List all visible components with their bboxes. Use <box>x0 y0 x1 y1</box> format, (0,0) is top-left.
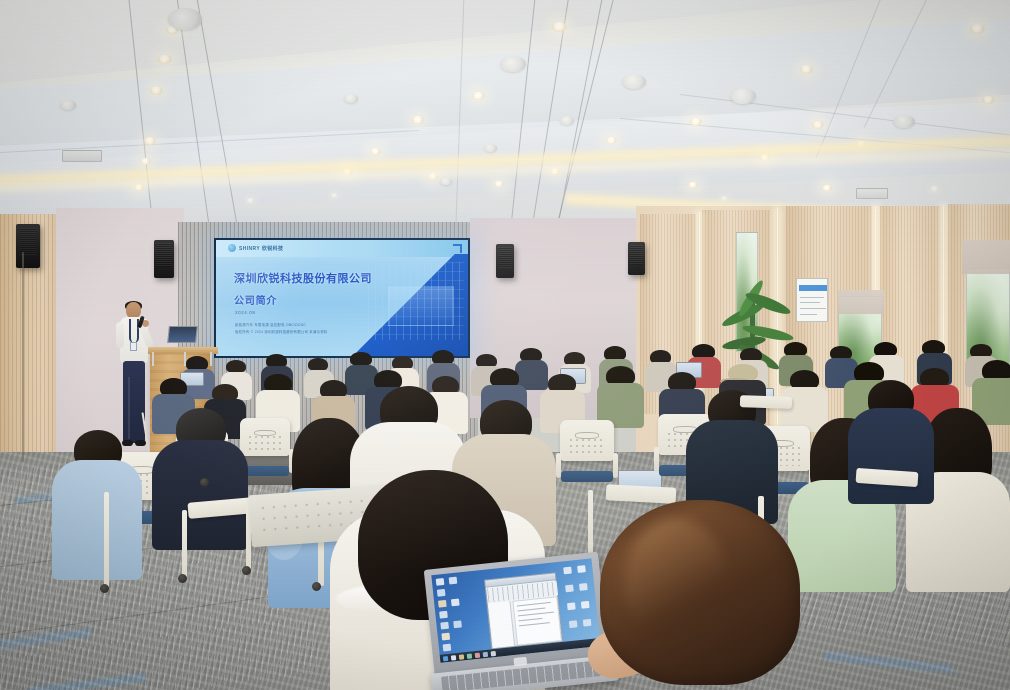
laptop-brand-logo <box>513 657 527 666</box>
slide-subtitle: 公司简介 <box>234 292 277 307</box>
downlight <box>930 186 939 192</box>
downlight <box>330 193 339 198</box>
chair-caster <box>242 566 251 575</box>
smoke-detector-icon <box>730 88 756 104</box>
downlight <box>150 86 163 95</box>
ceiling-vent <box>856 188 888 199</box>
smoke-detector-icon <box>484 144 497 152</box>
downlight <box>822 185 832 191</box>
smoke-detector-icon <box>168 8 202 30</box>
conference-room-photo: SHINRY 欣锐科技 深圳欣锐科技股份有限公司 公司简介 2024.08 新能… <box>0 0 1010 690</box>
smoke-detector-icon <box>344 94 358 103</box>
attendee-dark-navy <box>152 408 248 548</box>
window-document-area[interactable] <box>512 596 561 645</box>
poster-header-band <box>799 285 827 291</box>
slide-tech-graphic-detail <box>388 286 454 326</box>
chair-caster <box>312 582 321 591</box>
wall-cable <box>22 252 24 462</box>
downlight <box>970 24 985 34</box>
downlight <box>412 116 424 124</box>
smoke-detector-icon <box>60 100 76 110</box>
attendee-left-blue <box>52 430 142 580</box>
slide-title: 深圳欣锐科技股份有限公司 <box>234 270 372 286</box>
wall-speaker <box>16 224 40 268</box>
ceiling-vent <box>62 150 102 162</box>
chair-leg-rail <box>182 510 187 578</box>
window-shade <box>962 240 1010 274</box>
foreground-laptop[interactable] <box>424 551 622 690</box>
downlight <box>246 198 255 203</box>
smoke-detector-icon <box>893 115 915 128</box>
chair-leg-rail <box>104 492 109 588</box>
chair-leg-rail <box>588 490 593 562</box>
downlight <box>370 148 381 155</box>
downlight <box>606 137 617 144</box>
chair-tablet-arm <box>740 395 792 409</box>
open-application-window[interactable] <box>484 572 563 649</box>
smoke-detector-icon <box>622 74 646 89</box>
downlight <box>140 158 151 165</box>
downlight <box>494 181 504 187</box>
wall-poster <box>796 278 828 322</box>
ceiling <box>0 0 1010 240</box>
slide-footnote-1: 新能源汽车 车载电源 高压配电 OBC/DCDC <box>235 322 306 327</box>
laptop-screen[interactable] <box>431 558 600 662</box>
logo-mark-icon <box>228 244 236 252</box>
wall-speaker <box>628 242 645 275</box>
chair-caster <box>200 478 209 487</box>
foreground-attendee-brown-hair <box>600 500 830 690</box>
podium-leg <box>152 352 154 366</box>
downlight <box>800 65 813 74</box>
downlight <box>982 96 995 104</box>
chair-caster <box>100 584 109 593</box>
window-shade <box>838 290 884 314</box>
smoke-detector-icon <box>440 178 452 185</box>
wall-speaker <box>496 244 514 278</box>
downlight <box>690 118 702 126</box>
downlight <box>552 22 567 32</box>
logo-text: SHINRY 欣锐科技 <box>239 245 283 252</box>
chair-caster <box>178 574 187 583</box>
downlight <box>812 121 824 129</box>
slide-corner-bracket-icon <box>453 244 462 253</box>
presenter-badge <box>130 342 137 351</box>
slide-footnote-2: 版权所有 © 2024 深圳欣锐科技股份有限公司 本演示材料 <box>235 329 328 334</box>
downlight <box>472 92 485 100</box>
window-side-pane[interactable] <box>489 601 516 648</box>
slide-date: 2024.08 <box>235 310 255 315</box>
smoke-detector-icon <box>500 56 526 72</box>
downlight <box>688 182 698 188</box>
downlight <box>158 55 172 64</box>
presenter-arm-left <box>116 322 124 348</box>
company-logo: SHINRY 欣锐科技 <box>228 244 283 252</box>
smoke-detector-icon <box>560 116 574 125</box>
downlight <box>144 137 156 145</box>
wall-speaker <box>154 240 174 278</box>
audience-chair[interactable] <box>560 420 614 482</box>
